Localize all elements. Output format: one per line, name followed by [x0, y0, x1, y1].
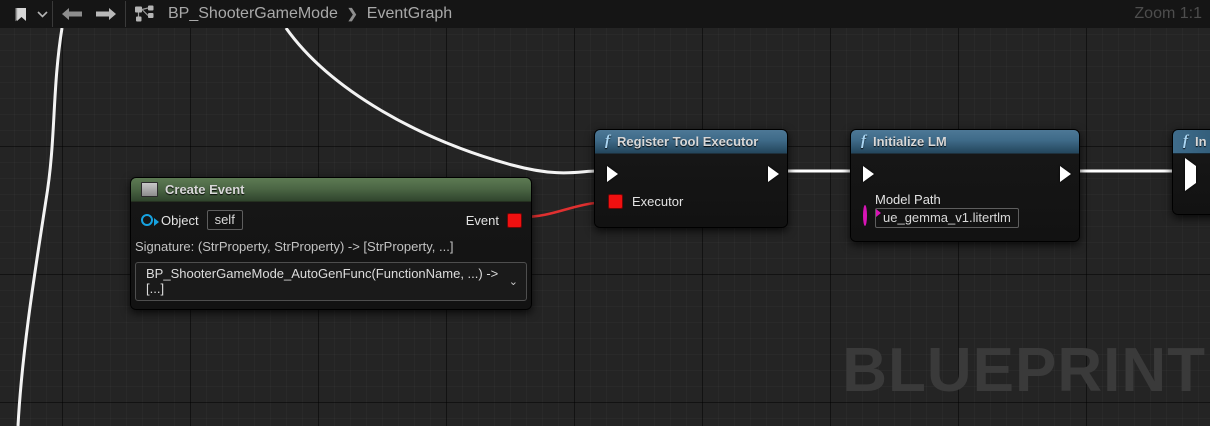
node-register-tool-content: Executor	[595, 154, 787, 227]
node-create-event-titlebar[interactable]: Create Event	[131, 178, 531, 202]
node-register-tool-body: f Register Tool Executor Executor	[594, 129, 788, 228]
create-event-function-combo-wrap: BP_ShooterGameMode_AutoGenFunc(FunctionN…	[131, 262, 531, 309]
model-path-pin-holder	[863, 192, 867, 225]
create-event-event-pin-group[interactable]: Event	[466, 213, 531, 228]
node-initialize-lm-titlebar[interactable]: f Initialize LM	[851, 130, 1079, 154]
executor-pin-label: Executor	[632, 194, 683, 209]
create-event-object-pin-group[interactable]: Object self	[131, 210, 243, 230]
toolbar-divider-2	[125, 1, 126, 27]
node-partial-titlebar[interactable]: f In	[1173, 130, 1210, 154]
exec-in-pin-icon[interactable]	[863, 166, 874, 182]
node-initialize-lm[interactable]: f Initialize LM Model Path ue_gemma_v1.l…	[850, 129, 1080, 242]
object-pin-label: Object	[161, 213, 199, 228]
function-f-icon: f	[605, 134, 610, 149]
node-partial-body: f In	[1172, 129, 1210, 215]
node-register-tool-titlebar[interactable]: f Register Tool Executor	[595, 130, 787, 154]
node-register-tool-title: Register Tool Executor	[617, 134, 758, 149]
node-initialize-lm-body: f Initialize LM Model Path ue_gemma_v1.l…	[850, 129, 1080, 242]
function-select-value: BP_ShooterGameMode_AutoGenFunc(FunctionN…	[146, 266, 501, 296]
blueprint-watermark: BLUEPRINT	[842, 340, 1206, 402]
exec-out-pin-icon[interactable]	[1060, 166, 1071, 182]
node-create-event-content: Object self Event Signature: (StrPropert…	[131, 202, 531, 309]
event-pin-label: Event	[466, 213, 499, 228]
chevron-down-glyph	[37, 11, 48, 18]
chevron-down-icon[interactable]	[34, 0, 50, 28]
zoom-level-label: Zoom 1:1	[1134, 0, 1202, 28]
breadcrumb-separator: ❯	[347, 6, 358, 22]
blueprint-editor: BLUEPRINT Create Event Object	[0, 0, 1210, 426]
initialize-lm-model-path-group[interactable]: Model Path ue_gemma_v1.litertlm	[851, 186, 1079, 241]
node-graph-icon[interactable]	[128, 0, 162, 28]
breadcrumb: BP_ShooterGameMode ❯ EventGraph	[168, 5, 452, 23]
arrow-left-icon[interactable]	[55, 0, 89, 28]
delegate-pin-icon[interactable]	[608, 194, 623, 209]
arrow-right-icon[interactable]	[89, 0, 123, 28]
bookmark-glyph	[15, 7, 28, 22]
function-select-dropdown[interactable]: BP_ShooterGameMode_AutoGenFunc(FunctionN…	[135, 262, 527, 301]
node-create-event-body: Create Event Object self Event Signature…	[130, 177, 532, 310]
object-pin-value[interactable]: self	[207, 210, 243, 230]
object-ref-pin-icon[interactable]	[141, 214, 153, 226]
toolbar-divider	[52, 1, 53, 27]
register-tool-executor-pin-group[interactable]: Executor	[595, 186, 787, 227]
node-initialize-lm-content: Model Path ue_gemma_v1.litertlm	[851, 154, 1079, 241]
breadcrumb-item-eventgraph[interactable]: EventGraph	[367, 5, 452, 23]
exec-out-pin-icon[interactable]	[768, 166, 779, 182]
editor-toolbar: BP_ShooterGameMode ❯ EventGraph Zoom 1:1	[0, 0, 1210, 28]
node-register-tool-executor[interactable]: f Register Tool Executor Executor	[594, 129, 788, 228]
node-partial-content	[1173, 154, 1210, 214]
node-graph-glyph	[134, 5, 156, 23]
model-path-field-column: Model Path ue_gemma_v1.litertlm	[875, 192, 1019, 227]
breadcrumb-item-blueprint[interactable]: BP_ShooterGameMode	[168, 5, 338, 23]
node-initialize-lm-title: Initialize LM	[873, 134, 947, 149]
exec-in-pin-icon[interactable]	[1185, 158, 1196, 191]
arrow-right-glyph	[94, 6, 118, 22]
create-event-signature-row: Signature: (StrProperty, StrProperty) ->…	[131, 236, 531, 262]
signature-text: Signature: (StrProperty, StrProperty) ->…	[135, 239, 453, 254]
create-event-pin-row: Object self Event	[131, 202, 531, 236]
register-tool-exec-row	[595, 154, 787, 186]
node-partial-offscreen[interactable]: f In	[1172, 129, 1210, 215]
node-create-event-title: Create Event	[165, 182, 244, 197]
delegate-pin-icon[interactable]	[507, 213, 522, 228]
bookmark-icon[interactable]	[0, 0, 34, 28]
model-path-value[interactable]: ue_gemma_v1.litertlm	[875, 208, 1019, 228]
chevron-down-icon: ⌄	[509, 275, 518, 288]
event-square-icon	[141, 182, 158, 197]
function-f-icon: f	[861, 134, 866, 149]
initialize-lm-exec-row	[851, 154, 1079, 186]
string-pin-icon[interactable]	[863, 205, 867, 226]
function-f-icon: f	[1183, 134, 1188, 149]
model-path-label: Model Path	[875, 192, 1019, 207]
exec-in-pin-icon[interactable]	[607, 166, 618, 182]
node-partial-title: In	[1195, 134, 1207, 149]
arrow-left-glyph	[60, 6, 84, 22]
partial-exec-row	[1173, 154, 1210, 214]
node-create-event[interactable]: Create Event Object self Event Signature…	[130, 177, 532, 310]
